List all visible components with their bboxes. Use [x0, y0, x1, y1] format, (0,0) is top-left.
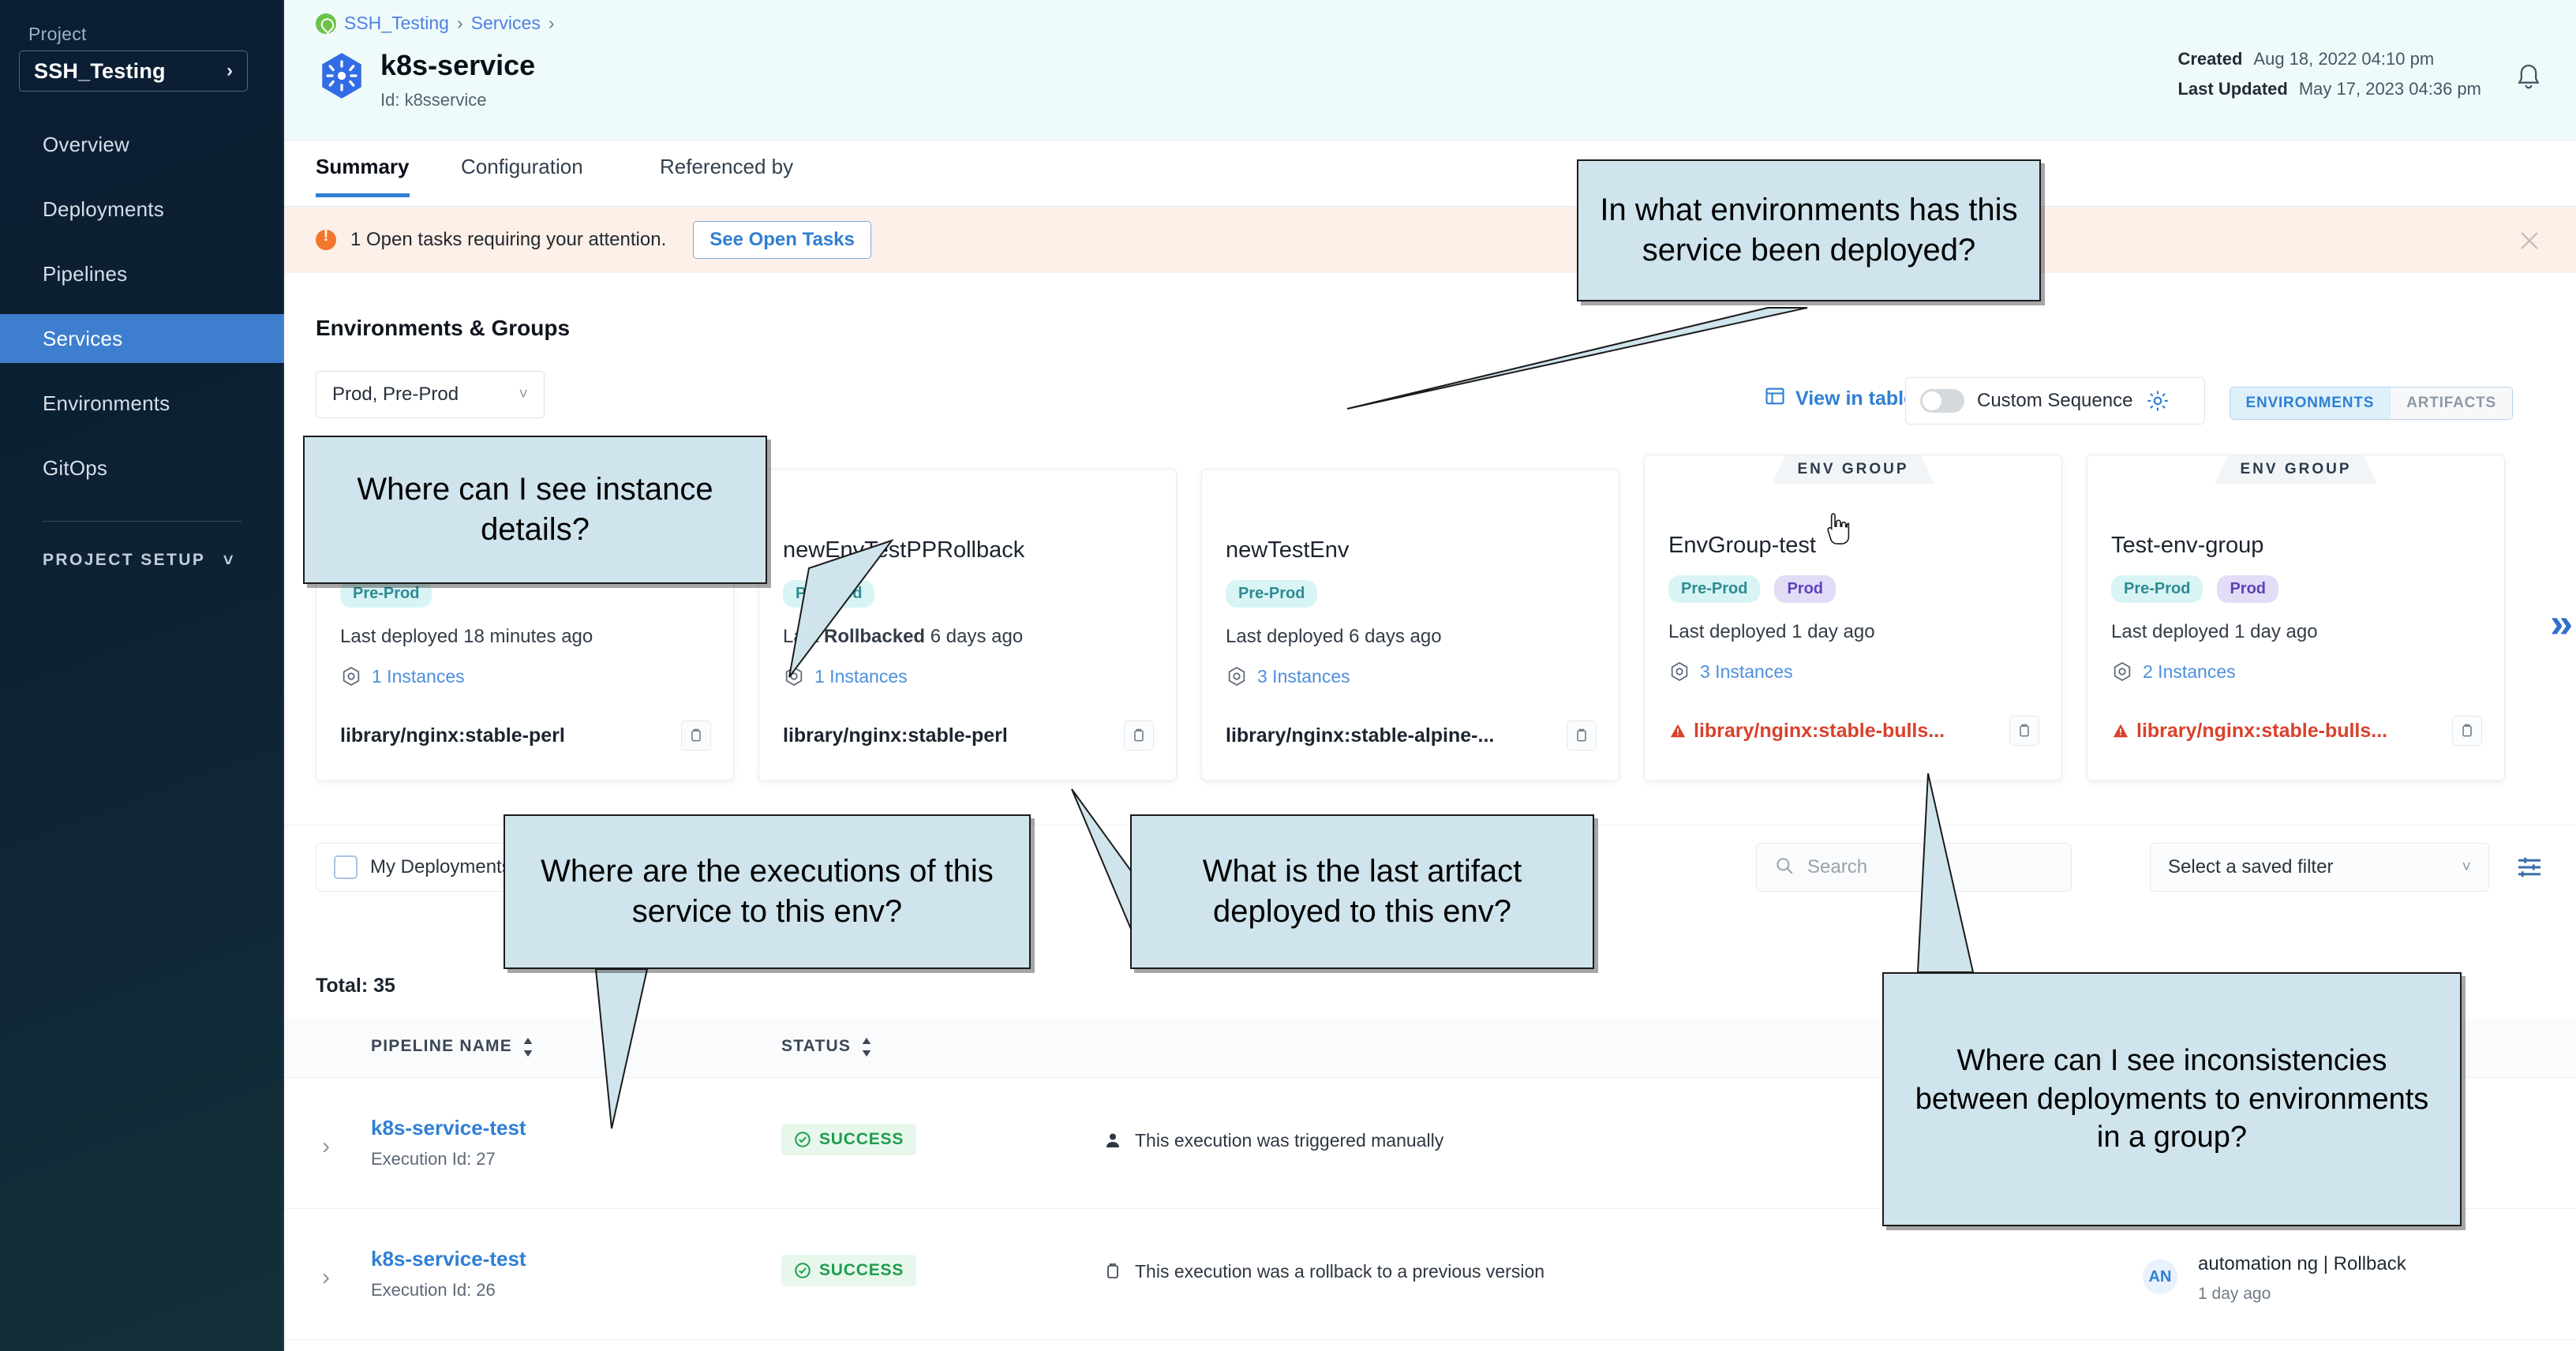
- callout-instance-details: Where can I see instance details?: [303, 436, 767, 584]
- callout-env-deployed: In what environments has this service be…: [1577, 159, 2041, 301]
- callout-last-artifact: What is the last artifact deployed to th…: [1130, 814, 1594, 969]
- callout-inconsistencies: Where can I see inconsistencies between …: [1882, 972, 2462, 1226]
- callout-text: Where can I see inconsistencies between …: [1901, 1042, 2443, 1157]
- callout-text: Where can I see instance details?: [322, 470, 748, 550]
- callout-text: What is the last artifact deployed to th…: [1149, 851, 1575, 932]
- callout-text: In what environments has this service be…: [1596, 190, 2022, 271]
- callout-text: Where are the executions of this service…: [522, 851, 1012, 932]
- cursor-pointer-icon: [1823, 511, 1851, 546]
- callout-executions: Where are the executions of this service…: [504, 814, 1031, 969]
